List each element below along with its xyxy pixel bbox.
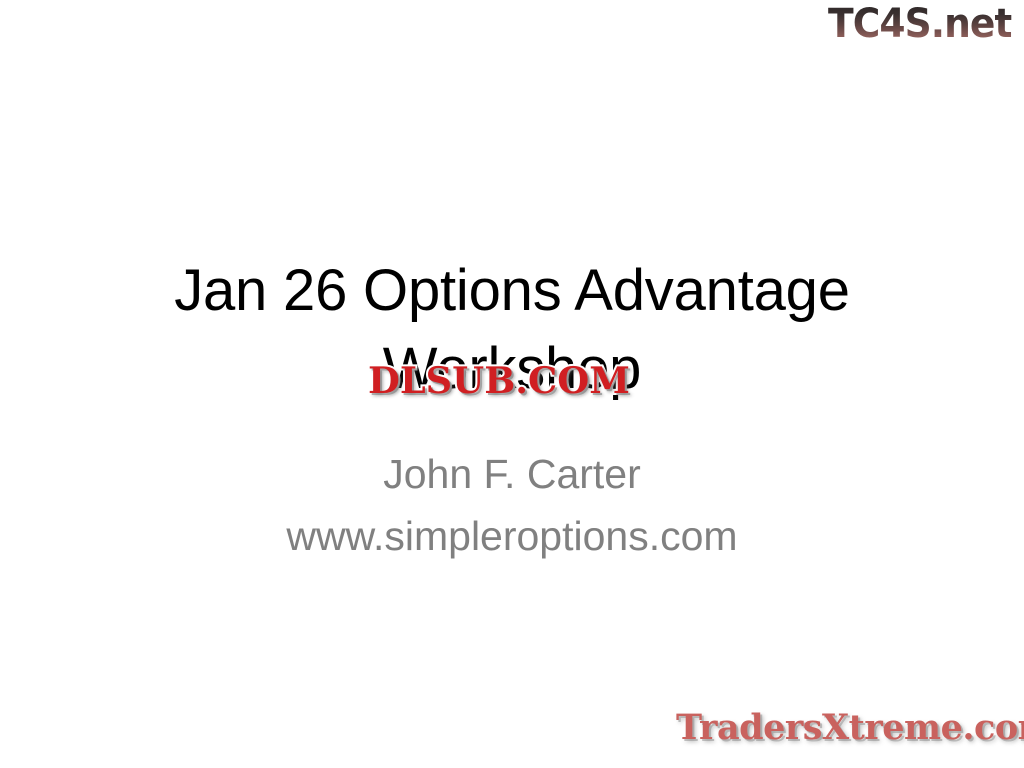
presenter-website: www.simpleroptions.com [0, 505, 1024, 567]
presenter-name: John F. Carter [0, 443, 1024, 505]
tradersxtreme-watermark: TradersXtreme.com [676, 706, 1024, 750]
tc4s-logo: TC4S.net [828, 2, 1011, 46]
title-line-1: Jan 26 Options Advantage [0, 252, 1024, 330]
dlsub-watermark: DLSUB.COM [368, 361, 630, 401]
presentation-slide: TC4S.net Jan 26 Options Advantage Worksh… [0, 0, 1024, 768]
slide-subtitle: John F. Carter www.simpleroptions.com [0, 443, 1024, 567]
dlsub-watermark-text: DLSUB.COM [368, 360, 630, 402]
